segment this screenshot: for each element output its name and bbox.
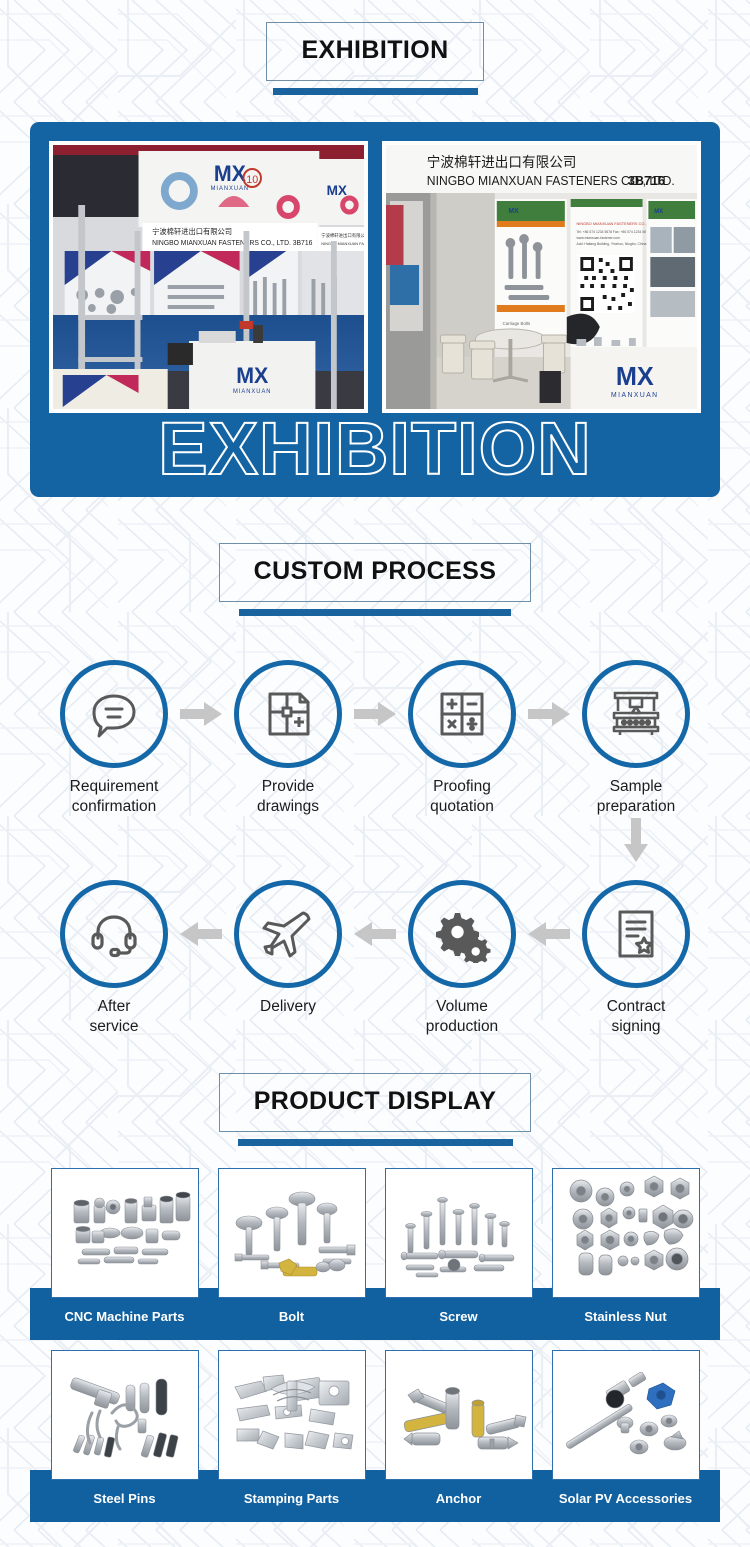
headset-icon [86, 906, 142, 962]
svg-text:Tel: +86 574 1234 5678 Fax:: Tel: +86 574 1234 5678 Fax: +86 574 1234… [576, 230, 649, 234]
product-row-2: Steel Pins [0, 1350, 750, 1506]
product-card-cnc-machine-parts[interactable]: CNC Machine Parts [51, 1168, 199, 1324]
process-step-label: Proofing quotation [430, 777, 494, 818]
product-card-stainless-nut[interactable]: Stainless Nut [552, 1168, 700, 1324]
product-label: Anchor [436, 1491, 482, 1506]
process-step-requirement-confirmation[interactable]: Requirement confirmation [56, 660, 172, 818]
stainless-nut-photo [552, 1168, 700, 1298]
process-step-label: After service [89, 997, 138, 1038]
svg-text:NINGBO MIANXUAN FASTENERS CO.,: NINGBO MIANXUAN FASTENERS CO.,LTD [321, 241, 364, 246]
flow-arrow-left [172, 880, 230, 988]
svg-text:Carriage Bolts: Carriage Bolts [503, 321, 531, 326]
svg-text:宁波棉轩进出口有限公司: 宁波棉轩进出口有限公司 [427, 154, 577, 171]
svg-text:MIANXUAN: MIANXUAN [233, 389, 272, 395]
exhibition-booth-photo-1: MX MIANXUAN MX 10 宁波棉轩进出口有限公司 NINGBO MIA… [49, 141, 368, 413]
stamping-parts-photo [218, 1350, 366, 1480]
certificate-icon [608, 906, 664, 962]
product-label: Stamping Parts [244, 1491, 339, 1506]
screw-photo [385, 1168, 533, 1298]
product-label: Solar PV Accessories [559, 1491, 692, 1506]
product-label: Screw [439, 1309, 477, 1324]
process-step-label: Contract signing [607, 997, 666, 1038]
gears-icon [433, 905, 491, 963]
product-display-section-heading: PRODUCT DISPLAY [0, 1073, 750, 1146]
process-step-label: Sample preparation [597, 777, 675, 818]
svg-text:NINGBO MIANXUAN FASTENERS CO.,: NINGBO MIANXUAN FASTENERS CO., LTD. 3B71… [152, 240, 312, 247]
process-step-after-service[interactable]: After service [56, 880, 172, 1038]
product-label: CNC Machine Parts [65, 1309, 185, 1324]
svg-text:MX: MX [654, 209, 663, 215]
svg-text:10: 10 [246, 174, 258, 186]
svg-text:www.mianxuan-fastener.com: www.mianxuan-fastener.com [576, 236, 619, 240]
cnc-machine-parts-photo [51, 1168, 199, 1298]
heading-box: EXHIBITION [266, 22, 483, 81]
product-card-stamping-parts[interactable]: Stamping Parts [218, 1350, 366, 1506]
heading-box: PRODUCT DISPLAY [219, 1073, 532, 1132]
product-card-steel-pins[interactable]: Steel Pins [51, 1350, 199, 1506]
process-step-label: Delivery [260, 997, 316, 1017]
blueprint-drawing-icon [260, 686, 316, 742]
process-step-contract-signing[interactable]: Contract signing [578, 880, 694, 1038]
product-card-bolt[interactable]: Bolt [218, 1168, 366, 1324]
svg-text:MX: MX [236, 363, 269, 388]
svg-text:宁波棉轩进出口有限公司: 宁波棉轩进出口有限公司 [152, 227, 232, 236]
product-card-screw[interactable]: Screw [385, 1168, 533, 1324]
page-title-custom-process: CUSTOM PROCESS [254, 557, 497, 586]
flow-arrow-left [520, 880, 578, 988]
page-title-product-display: PRODUCT DISPLAY [254, 1087, 497, 1116]
process-step-label: Requirement confirmation [70, 777, 159, 818]
product-detail-page: EXHIBITION [0, 0, 750, 1547]
heading-underline [238, 1139, 513, 1146]
process-step-delivery[interactable]: Delivery [230, 880, 346, 1017]
svg-text:MIANXUAN: MIANXUAN [211, 186, 250, 192]
steel-pins-photo [51, 1350, 199, 1480]
exhibition-outline-word: EXHIBITION [30, 410, 720, 488]
solar-pv-accessories-photo [552, 1350, 700, 1480]
product-label: Steel Pins [93, 1491, 155, 1506]
flow-arrow-right [172, 660, 230, 768]
svg-text:MX: MX [616, 363, 654, 391]
cnc-machine-icon [607, 685, 665, 743]
svg-text:NINGBO MIANXUAN FASTENERS CO.,: NINGBO MIANXUAN FASTENERS CO., LTD [576, 221, 654, 226]
svg-text:Add: Haitang Building, Yinzhou: Add: Haitang Building, Yinzhou, Ningbo, … [576, 242, 646, 246]
exhibition-photo-list: MX MIANXUAN MX 10 宁波棉轩进出口有限公司 NINGBO MIA… [49, 141, 701, 413]
svg-text:MX: MX [327, 183, 348, 198]
bolt-photo [218, 1168, 366, 1298]
flow-arrow-down [622, 818, 650, 867]
exhibition-section-heading: EXHIBITION [0, 22, 750, 95]
product-card-anchor[interactable]: Anchor [385, 1350, 533, 1506]
airplane-icon [259, 905, 317, 963]
process-step-sample-preparation[interactable]: Sample preparation [578, 660, 694, 818]
process-step-label: Provide drawings [257, 777, 319, 818]
custom-process-section-heading: CUSTOM PROCESS [0, 543, 750, 616]
calculator-icon [434, 686, 490, 742]
process-step-proofing-quotation[interactable]: Proofing quotation [404, 660, 520, 818]
exhibition-booth-photo-2: 宁波棉轩进出口有限公司 NINGBO MIANXUAN FASTENERS CO… [382, 141, 701, 413]
anchor-photo [385, 1350, 533, 1480]
product-label: Stainless Nut [584, 1309, 666, 1324]
heading-box: CUSTOM PROCESS [219, 543, 532, 602]
process-step-volume-production[interactable]: Volume production [404, 880, 520, 1038]
heading-underline [273, 88, 478, 95]
process-flow-row-2: After service Delivery [0, 880, 750, 1038]
heading-underline [239, 609, 511, 616]
flow-arrow-left [346, 880, 404, 988]
svg-text:MX: MX [214, 161, 247, 186]
svg-text:MX: MX [508, 208, 519, 215]
product-label: Bolt [279, 1309, 304, 1324]
exhibition-banner: MX MIANXUAN MX 10 宁波棉轩进出口有限公司 NINGBO MIA… [30, 122, 720, 497]
process-flow-row-1: Requirement confirmation [0, 660, 750, 818]
svg-text:MIANXUAN: MIANXUAN [611, 392, 659, 399]
process-step-provide-drawings[interactable]: Provide drawings [230, 660, 346, 818]
svg-text:3B716: 3B716 [628, 173, 665, 188]
speech-bubble-icon [86, 686, 142, 742]
flow-arrow-right [346, 660, 404, 768]
product-card-solar-pv-accessories[interactable]: Solar PV Accessories [552, 1350, 700, 1506]
flow-arrow-right [520, 660, 578, 768]
svg-text:宁波棉轩进出口有限公司: 宁波棉轩进出口有限公司 [321, 232, 364, 239]
product-row-1: CNC Machine Parts [0, 1168, 750, 1324]
page-title-exhibition: EXHIBITION [301, 36, 448, 65]
process-step-label: Volume production [426, 997, 498, 1038]
